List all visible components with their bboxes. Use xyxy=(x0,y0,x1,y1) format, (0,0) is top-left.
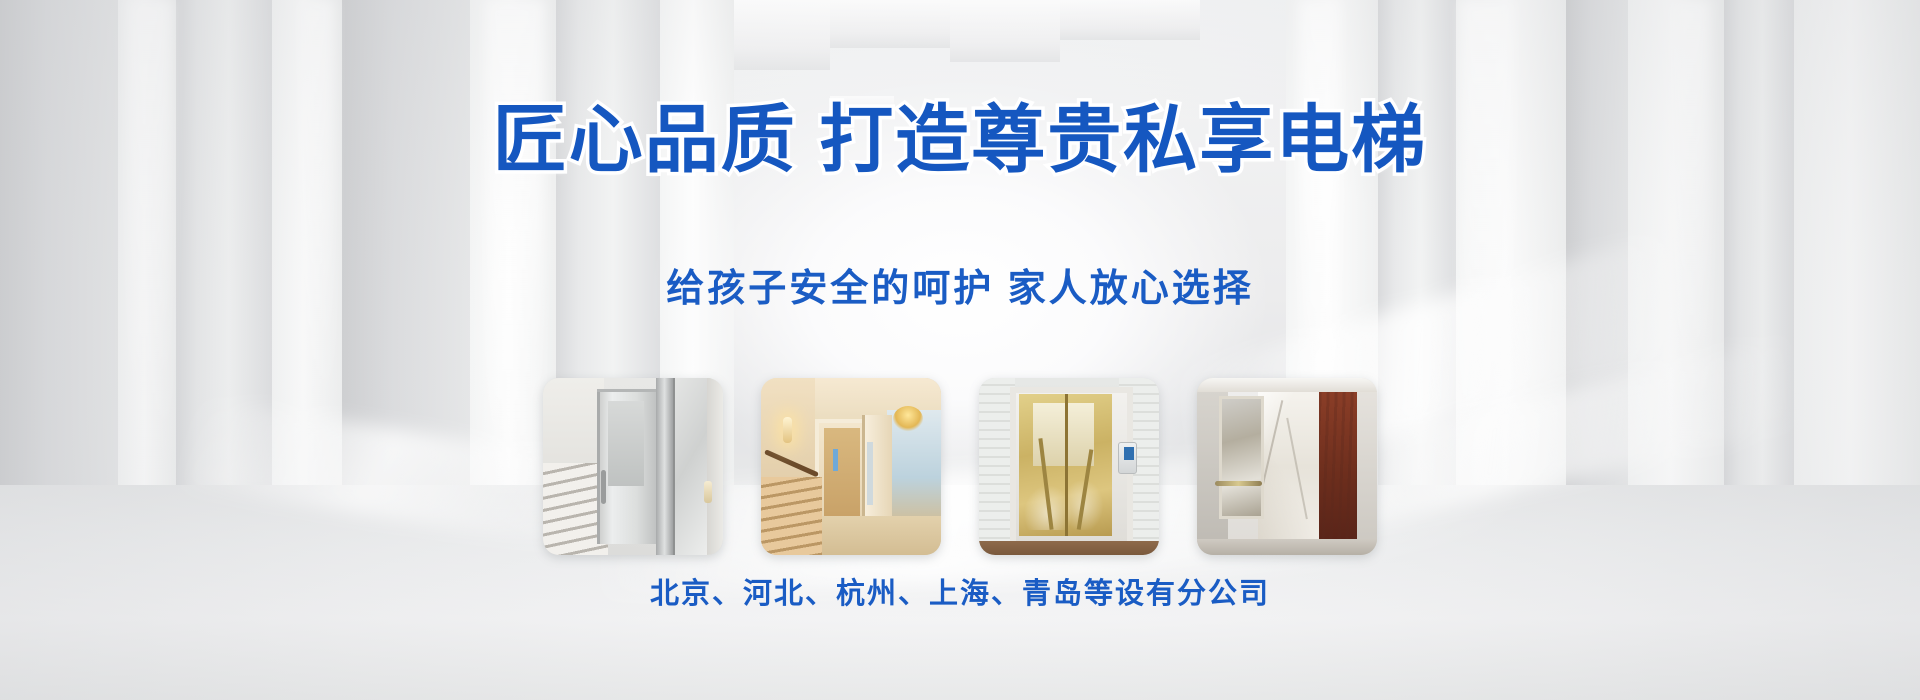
banner-content: 匠心品质 打造尊贵私享电梯 给孩子安全的呵护 家人放心选择 xyxy=(0,0,1920,700)
branch-offices-caption: 北京、河北、杭州、上海、青岛等设有分公司 xyxy=(0,576,1920,614)
product-photo-card-4[interactable] xyxy=(1197,378,1377,555)
product-photo-card-3[interactable] xyxy=(979,378,1159,555)
product-photo-card-1[interactable] xyxy=(543,378,723,555)
hero-banner: 匠心品质 打造尊贵私享电梯 给孩子安全的呵护 家人放心选择 xyxy=(0,0,1920,700)
banner-subtitle: 给孩子安全的呵护 家人放心选择 xyxy=(0,265,1920,314)
elevator-photo-marble-cabin xyxy=(1197,378,1377,555)
elevator-photo-warm-hall xyxy=(761,378,941,555)
elevator-photo-white-steel xyxy=(543,378,723,555)
elevator-photo-golden-doors xyxy=(979,378,1159,555)
product-photo-gallery xyxy=(0,378,1920,555)
banner-headline: 匠心品质 打造尊贵私享电梯 xyxy=(0,96,1920,183)
product-photo-card-2[interactable] xyxy=(761,378,941,555)
